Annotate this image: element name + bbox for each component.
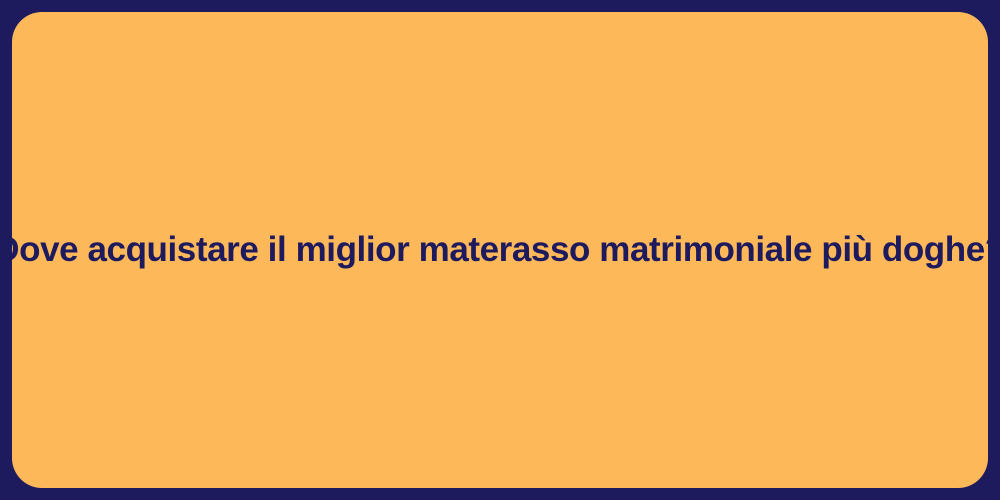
headline-card: Dove acquistare il miglior materasso mat… — [12, 12, 988, 488]
page-title: Dove acquistare il miglior materasso mat… — [0, 230, 1000, 270]
outer-frame: Dove acquistare il miglior materasso mat… — [0, 0, 1000, 500]
